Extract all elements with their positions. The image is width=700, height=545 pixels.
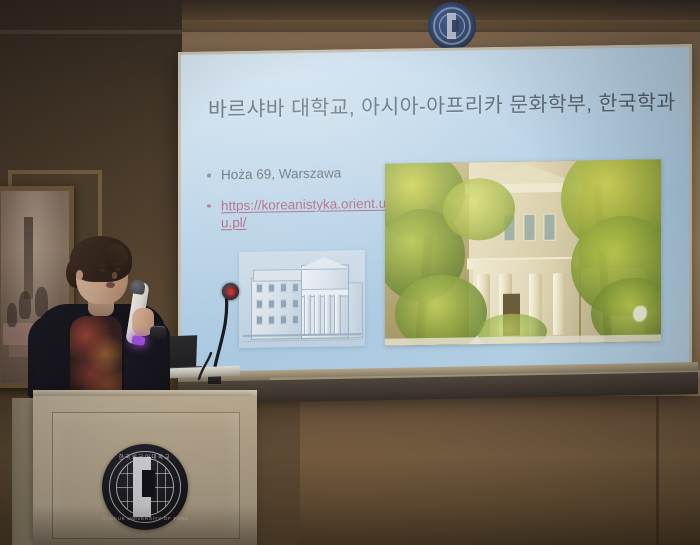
painting-figure bbox=[7, 303, 17, 327]
presenter bbox=[32, 236, 172, 398]
sketch-side-wing bbox=[347, 282, 363, 338]
photo-window bbox=[523, 213, 536, 241]
microphone-led-indicator bbox=[228, 289, 234, 295]
university-emblem-blue-icon bbox=[428, 2, 476, 50]
lectern-shadow bbox=[33, 505, 257, 545]
building-sketch-image bbox=[239, 250, 365, 348]
sketch-window bbox=[292, 283, 299, 292]
photo-foliage bbox=[395, 274, 487, 346]
building-photo-image bbox=[385, 159, 661, 345]
sketch-window bbox=[256, 300, 263, 309]
bullet-text: Hoża 69, Warszawa bbox=[221, 165, 341, 182]
sketch-window bbox=[280, 315, 287, 324]
sketch-window bbox=[268, 299, 275, 308]
photo-window bbox=[543, 213, 556, 241]
projection-screen: 바르샤바 대학교, 아시아-아프리카 문화학부, 한국학과 Hoża 69, W… bbox=[178, 44, 692, 396]
photo-column bbox=[553, 273, 566, 335]
presenter-ear bbox=[76, 270, 83, 280]
sketch-window bbox=[280, 299, 287, 308]
sketch-window bbox=[256, 316, 263, 325]
lectern: 한국외국어대학교 HANKUK UNIVERSITY OF FOREIGN ST… bbox=[33, 396, 257, 545]
wall-seam bbox=[0, 30, 182, 34]
sketch-upper-storey bbox=[253, 269, 303, 282]
presenter-eye bbox=[115, 268, 121, 271]
presenter-wristwatch bbox=[150, 326, 166, 339]
sketch-window bbox=[280, 283, 287, 292]
sketch-window bbox=[268, 315, 275, 324]
presenter-eye bbox=[99, 269, 105, 272]
presentation-slide: 바르샤바 대학교, 아시아-아프리카 문화학부, 한국학과 Hoża 69, W… bbox=[181, 47, 689, 393]
painting-figure bbox=[19, 291, 31, 319]
sketch-column bbox=[324, 295, 331, 335]
emblem-letter-notch bbox=[142, 470, 155, 497]
lectern-side bbox=[12, 398, 35, 545]
presenter-mouth bbox=[106, 282, 115, 288]
sketch-window bbox=[268, 283, 275, 292]
photo-scene: 바르샤바 대학교, 아시아-아프리카 문화학부, 한국학과 Hoża 69, W… bbox=[0, 0, 700, 545]
sketch-column bbox=[314, 295, 321, 335]
sketch-pediment bbox=[297, 256, 351, 270]
sketch-column bbox=[304, 295, 311, 335]
sketch-window bbox=[256, 284, 263, 293]
cable-curve bbox=[196, 352, 214, 380]
slide-title: 바르샤바 대학교, 아시아-아프리카 문화학부, 한국학과 bbox=[208, 85, 678, 122]
sketch-column bbox=[334, 294, 341, 334]
handheld-microphone-led bbox=[131, 335, 145, 346]
handheld-microphone-grille bbox=[129, 279, 146, 295]
presenter-eyebrow bbox=[114, 263, 122, 265]
presenter-nose bbox=[112, 272, 117, 279]
presenter-eyebrow bbox=[98, 264, 106, 266]
laptop-cable bbox=[196, 352, 214, 378]
wall-vertical-seam bbox=[656, 396, 659, 545]
sketch-window bbox=[292, 299, 299, 308]
emblem-letter-notch bbox=[452, 20, 459, 32]
emblem-arc-text-top: 한국외국어대학교 bbox=[102, 453, 188, 461]
sketch-window bbox=[292, 315, 299, 324]
presenter-hair-front bbox=[106, 244, 128, 270]
